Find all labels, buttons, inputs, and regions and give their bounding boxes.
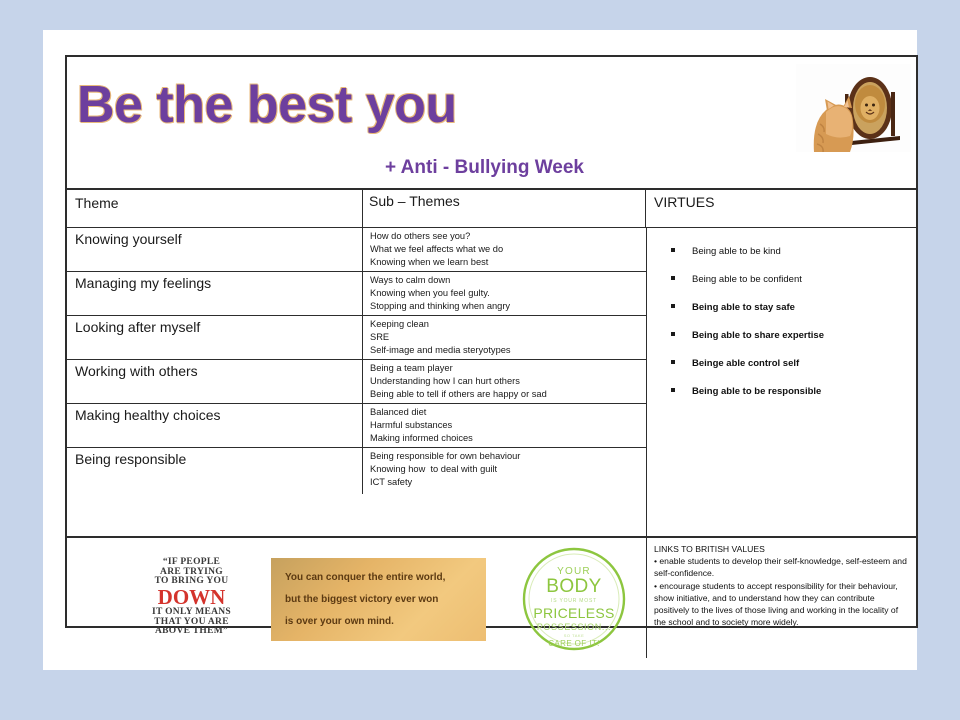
virtue-item: Being able to stay safe [671,302,916,313]
header-cell-virtues: VIRTUES [646,190,916,227]
bullet-square-icon [671,360,675,364]
table-row: Making healthy choices Balanced diet Har… [67,404,646,448]
svg-text:CARE OF IT!: CARE OF IT! [548,639,600,648]
sub-theme-item: SRE [370,331,646,344]
sub-theme-item: Knowing when we learn best [370,256,646,269]
bullet-square-icon [671,332,675,336]
sub-themes-cell: How do others see you? What we feel affe… [363,228,646,271]
sub-theme-item: Knowing when you feel gulty. [370,287,646,300]
virtues-list: Being able to be kind Being able to be c… [647,228,916,536]
sub-theme-item: ICT safety [370,476,646,489]
svg-text:IS YOUR MOST: IS YOUR MOST [551,598,597,604]
header-cell-sub-themes: Sub – Themes [363,190,646,227]
banner-line: is over your own mind. [285,611,486,633]
virtue-item: Being able to be kind [671,246,916,257]
svg-text:SO TAKE: SO TAKE [564,633,584,638]
theme-rows-group: Knowing yourself How do others see you? … [67,228,647,536]
table-row: Being responsible Being responsible for … [67,448,646,494]
sub-theme-item: Ways to calm down [370,274,646,287]
quote-typographic-image: “IF PEOPLE ARE TRYING TO BRING YOU DOWN … [139,558,244,642]
sub-theme-item: Being able to tell if others are happy o… [370,388,646,401]
title-band: Be the best you + Anti - Bullying Week [67,57,916,190]
footer-row: “IF PEOPLE ARE TRYING TO BRING YOU DOWN … [67,536,916,658]
table-row: Managing my feelings Ways to calm down K… [67,272,646,316]
theme-cell: Knowing yourself [67,228,363,271]
sub-theme-item: Being a team player [370,362,646,375]
sub-theme-item: Balanced diet [370,406,646,419]
theme-cell: Being responsible [67,448,363,494]
virtue-item: Being able to be responsible [671,386,916,397]
sub-theme-item: Self-image and media steryotypes [370,344,646,357]
sub-themes-cell: Being a team player Understanding how I … [363,360,646,403]
virtue-label: Beinge able control self [692,358,799,369]
theme-cell: Managing my feelings [67,272,363,315]
sub-theme-item: How do others see you? [370,230,646,243]
content-table: Be the best you + Anti - Bullying Week [65,55,918,628]
british-values-cell: LINKS TO BRITISH VALUES • enable student… [647,538,916,658]
slide-canvas: Be the best you + Anti - Bullying Week [43,30,917,670]
footer-media-group: “IF PEOPLE ARE TRYING TO BRING YOU DOWN … [67,538,647,658]
your-body-badge-image: YOUR BODY IS YOUR MOST PRICELESS POSSESS… [519,544,629,654]
page-subtitle: + Anti - Bullying Week [385,157,584,179]
virtue-item: Being able to be confident [671,274,916,285]
table-header-row: Theme Sub – Themes VIRTUES [67,190,916,228]
sub-theme-item: What we feel affects what we do [370,243,646,256]
sub-themes-cell: Ways to calm down Knowing when you feel … [363,272,646,315]
virtue-label: Being able to be kind [692,246,781,257]
bullet-square-icon [671,276,675,280]
virtue-item: Beinge able control self [671,358,916,369]
sub-theme-item: Keeping clean [370,318,646,331]
british-values-bullet: • enable students to develop their self-… [654,555,910,579]
table-row: Looking after myself Keeping clean SRE S… [67,316,646,360]
header-cell-theme: Theme [67,190,363,227]
banner-line: but the biggest victory ever won [285,589,486,611]
sub-themes-cell: Being responsible for own behaviour Know… [363,448,646,494]
sub-theme-item: Harmful substances [370,419,646,432]
sub-themes-cell: Keeping clean SRE Self-image and media s… [363,316,646,359]
british-values-bullet: • encourage students to accept responsib… [654,580,910,629]
quote-emphasis-word: DOWN [139,587,244,608]
sub-theme-item: Knowing how to deal with guilt [370,463,646,476]
sub-theme-item: Stopping and thinking when angry [370,300,646,313]
british-values-title: LINKS TO BRITISH VALUES [654,543,910,555]
virtue-label: Being able to share expertise [692,330,824,341]
sub-theme-item: Understanding how I can hurt others [370,375,646,388]
page-title: Be the best you [77,75,457,135]
bullet-square-icon [671,248,675,252]
sub-theme-item: Being responsible for own behaviour [370,450,646,463]
header-label-theme: Theme [75,195,119,211]
virtue-label: Being able to be confident [692,274,802,285]
virtue-label: Being able to stay safe [692,302,795,313]
header-label-sub-themes: Sub – Themes [369,193,460,209]
table-row: Working with others Being a team player … [67,360,646,404]
table-body: Knowing yourself How do others see you? … [67,228,916,536]
banner-line: You can conquer the entire world, [285,567,486,589]
sub-theme-item: Making informed choices [370,432,646,445]
svg-text:BODY: BODY [546,576,601,597]
bullet-square-icon [671,388,675,392]
theme-cell: Working with others [67,360,363,403]
quote-banner-image: You can conquer the entire world, but th… [271,558,486,641]
theme-cell: Looking after myself [67,316,363,359]
virtue-item: Being able to share expertise [671,330,916,341]
bullet-square-icon [671,304,675,308]
svg-text:POSSESSION...: POSSESSION... [537,622,611,632]
table-row: Knowing yourself How do others see you? … [67,228,646,272]
virtue-label: Being able to be responsible [692,386,821,397]
header-label-virtues: VIRTUES [654,194,714,210]
theme-cell: Making healthy choices [67,404,363,447]
kitten-mirror-image [796,64,911,152]
svg-text:PRICELESS: PRICELESS [533,605,614,621]
sub-themes-cell: Balanced diet Harmful substances Making … [363,404,646,447]
quote-line: ABOVE THEM” [139,627,244,637]
